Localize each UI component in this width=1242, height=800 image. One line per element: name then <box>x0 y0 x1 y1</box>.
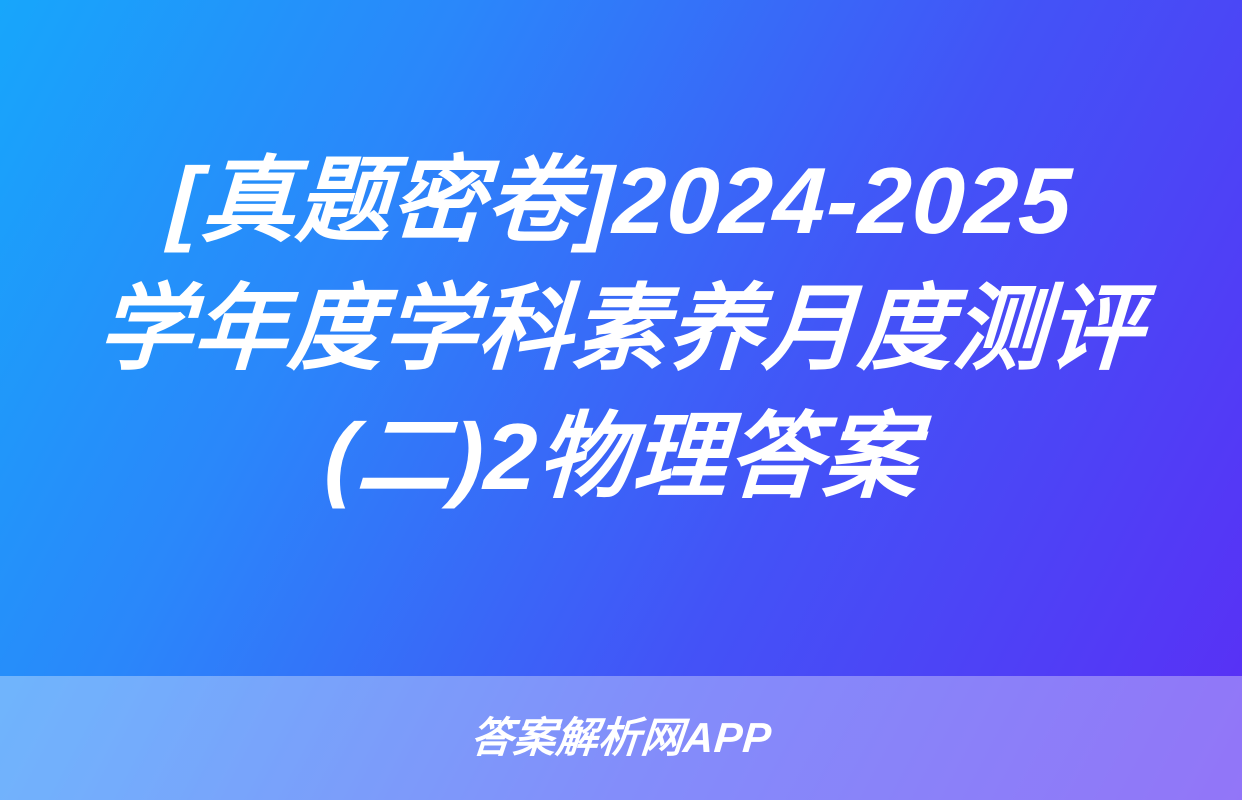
title-line-3: (二)2物理答案 <box>321 393 921 521</box>
title-line-1: [真题密卷]2024-2025 <box>166 137 1076 265</box>
footer-watermark-band: 答案解析网APP <box>0 676 1242 800</box>
title-block: [真题密卷]2024-2025 学年度学科素养月度测评 (二)2物理答案 <box>0 0 1242 676</box>
footer-watermark-label: 答案解析网APP <box>469 715 773 761</box>
poster-canvas: [真题密卷]2024-2025 学年度学科素养月度测评 (二)2物理答案 答案解… <box>0 0 1242 800</box>
title-line-2: 学年度学科素养月度测评 <box>95 265 1147 393</box>
